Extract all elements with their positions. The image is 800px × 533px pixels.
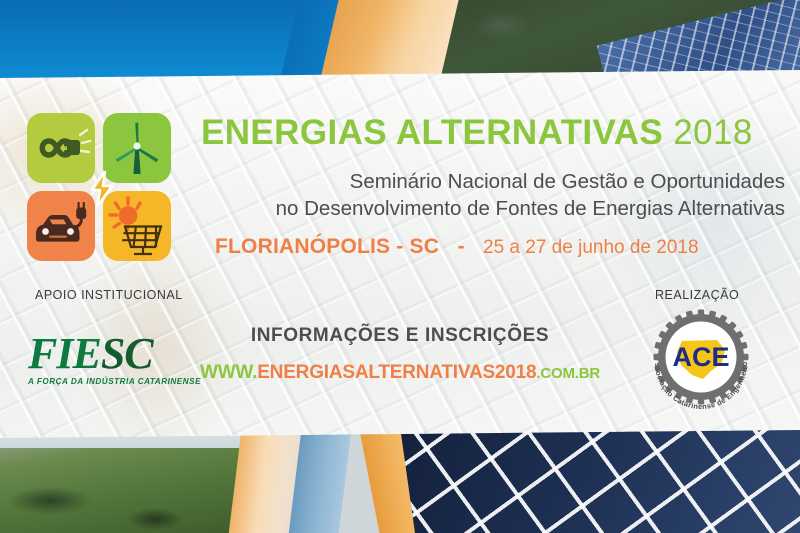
event-location-date: FLORIANÓPOLIS - SC - 25 a 27 de junho de…: [215, 235, 699, 259]
subtitle-line-1: Seminário Nacional de Gestão e Oportunid…: [350, 170, 785, 193]
url-domain: ENERGIASALTERNATIVAS2018: [257, 362, 536, 383]
page-title: ENERGIAS ALTERNATIVAS 2018: [201, 113, 753, 153]
location-date-separator: -: [444, 235, 479, 258]
url-suffix: .COM.BR: [536, 365, 600, 382]
organizer-label: REALIZAÇÃO: [655, 288, 739, 302]
url-prefix: WWW.: [200, 362, 257, 383]
event-city: FLORIANÓPOLIS - SC: [215, 235, 439, 258]
support-label: APOIO INSTITUCIONAL: [35, 288, 183, 302]
event-subtitle: Seminário Nacional de Gestão e Oportunid…: [185, 168, 785, 222]
event-poster: ENERGIAS ALTERNATIVAS 2018 Seminário Nac…: [0, 0, 800, 533]
ace-logo[interactable]: ACE Associação Catarinense de Engenheiro…: [645, 307, 757, 411]
title-main: ENERGIAS ALTERNATIVAS: [201, 113, 663, 152]
subtitle-line-2: no Desenvolvimento de Fontes de Energias…: [185, 195, 785, 222]
event-logo-mark: [27, 113, 175, 263]
title-year: 2018: [673, 113, 752, 152]
lightning-bolt-icon: [85, 171, 119, 207]
event-dates: 25 a 27 de junho de 2018: [483, 237, 699, 258]
info-heading: INFORMAÇÕES E INSCRIÇÕES: [0, 325, 800, 347]
website-url[interactable]: WWW.ENERGIASALTERNATIVAS2018.COM.BR: [0, 362, 800, 384]
solar-array-bottom-photo: [399, 418, 800, 533]
